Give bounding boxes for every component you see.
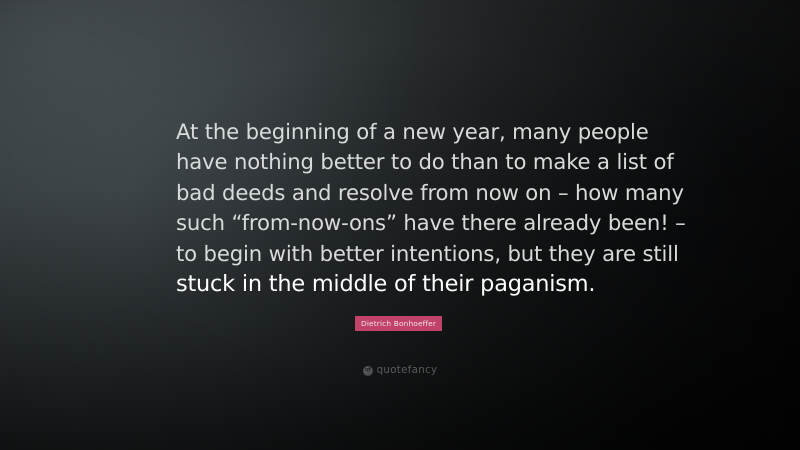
poster-content: At the beginning of a new year, many peo… <box>0 0 800 450</box>
quote-line-1: At the beginning of a new year, many peo… <box>176 117 628 147</box>
watermark[interactable]: qf quotefancy <box>0 366 800 376</box>
quote-line-4: such “from-now-ons” have there already b… <box>176 208 628 238</box>
quote-line-3: bad deeds and resolve from now on – how … <box>176 178 628 208</box>
watermark-brand-label: quotefancy <box>377 366 438 376</box>
quote-line-6: stuck in the middle of their paganism. <box>176 269 628 299</box>
quotefancy-logo-glyph: qf <box>365 368 371 374</box>
quote-text: At the beginning of a new year, many peo… <box>176 117 628 299</box>
quote-line-5: to begin with better intentions, but the… <box>176 239 628 269</box>
author-badge[interactable]: Dietrich Bonhoeffer <box>355 316 442 331</box>
quote-poster: At the beginning of a new year, many peo… <box>0 0 800 450</box>
quotefancy-logo-icon: qf <box>363 366 373 376</box>
quote-line-2: have nothing better to do than to make a… <box>176 147 628 177</box>
author-name: Dietrich Bonhoeffer <box>361 320 436 327</box>
